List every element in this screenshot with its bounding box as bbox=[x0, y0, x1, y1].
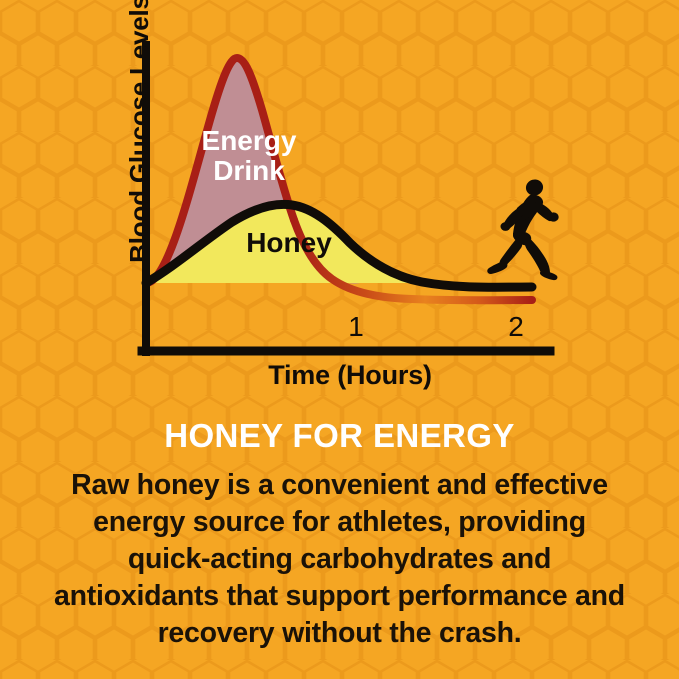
chart-svg bbox=[0, 0, 679, 420]
caption-block: HONEY FOR ENERGY Raw honey is a convenie… bbox=[0, 418, 679, 653]
body-line: antioxidants that support performance an… bbox=[26, 578, 653, 615]
x-tick-label-2: 2 bbox=[501, 311, 531, 343]
runner-silhouette-icon bbox=[487, 178, 558, 281]
infographic-card: Blood Glucose Levels Time (Hours) Energy… bbox=[0, 0, 679, 679]
energy-drink-label-line1: Energy bbox=[202, 125, 297, 156]
body-line: quick-acting carbohydrates and bbox=[26, 541, 653, 578]
x-tick-label-1: 1 bbox=[341, 311, 371, 343]
body-line: recovery without the crash. bbox=[26, 615, 653, 652]
energy-drink-label: Energy Drink bbox=[189, 126, 309, 186]
honey-label: Honey bbox=[229, 228, 349, 258]
y-axis-label: Blood Glucose Levels bbox=[122, 0, 156, 279]
body-line: Raw honey is a convenient and effective bbox=[26, 467, 653, 504]
energy-drink-label-line2: Drink bbox=[213, 155, 285, 186]
glucose-chart: Blood Glucose Levels Time (Hours) Energy… bbox=[0, 0, 679, 420]
body-copy: Raw honey is a convenient and effective … bbox=[0, 467, 679, 652]
x-axis-label: Time (Hours) bbox=[150, 360, 550, 391]
body-line: energy source for athletes, providing bbox=[26, 504, 653, 541]
headline: HONEY FOR ENERGY bbox=[0, 418, 679, 454]
